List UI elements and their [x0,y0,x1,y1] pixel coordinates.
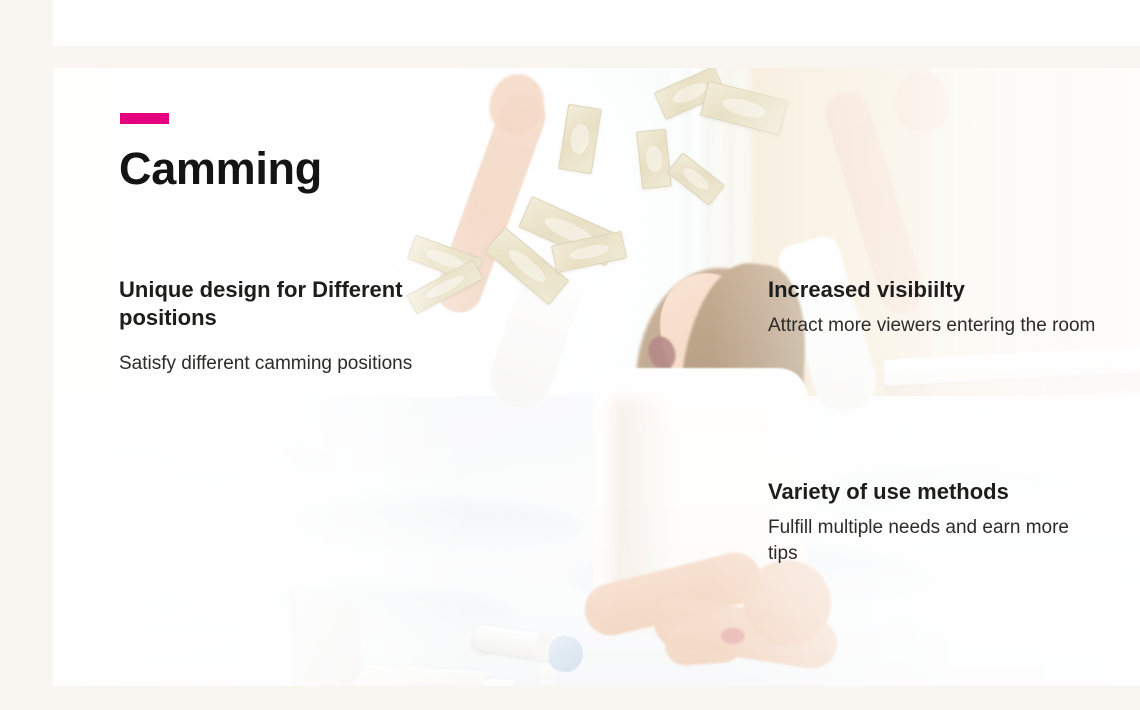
photo-panel: Camming Unique design for Different posi… [53,68,1140,686]
page-title: Camming [119,146,322,191]
feature-body: Fulfill multiple needs and earn more tip… [768,515,1098,567]
feature-body: Attract more viewers entering the room [768,313,1098,339]
text-layer: Camming Unique design for Different posi… [53,68,1140,686]
feature-block-variety-of-use-methods: Variety of use methods Fulfill multiple … [768,478,1098,567]
feature-heading: Unique design for Different positions [119,276,419,332]
feature-body: Satisfy different camming positions [119,351,419,377]
feature-block-increased-visibility: Increased visibiilty Attract more viewer… [768,276,1098,339]
feature-heading: Increased visibiilty [768,276,1098,304]
accent-bar [120,113,169,124]
feature-heading: Variety of use methods [768,478,1098,506]
slide-root: Camming Unique design for Different posi… [0,0,1140,710]
feature-block-unique-design: Unique design for Different positions Sa… [119,276,419,377]
top-white-band [53,0,1140,46]
